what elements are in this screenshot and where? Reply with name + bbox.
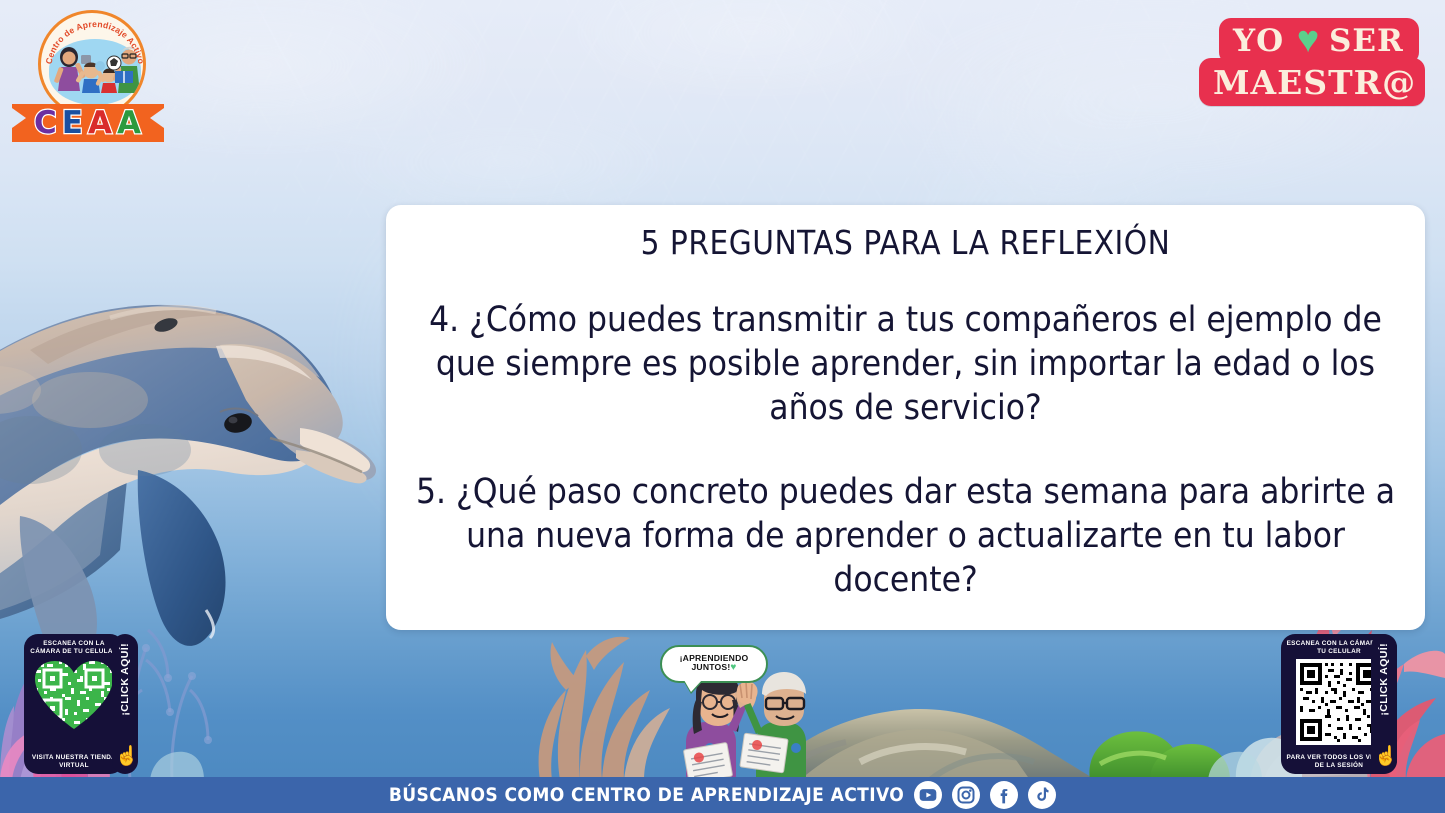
- heart-icon: ♥: [730, 662, 736, 673]
- ceaa-letter-c: C: [34, 108, 58, 139]
- bottom-bar-text: BÚSCANOS COMO CENTRO DE APRENDIZAJE ACTI…: [389, 784, 904, 806]
- questions-card: 5 PREGUNTAS PARA LA REFLEXIÓN 4. ¿Cómo p…: [386, 205, 1425, 630]
- teachers-high-five-illustration: [650, 672, 820, 787]
- qr-badge-tienda[interactable]: ESCANEA CON LA CÁMARA DE TU CELULAR: [24, 634, 124, 774]
- qr-left-code-heart[interactable]: [33, 659, 115, 736]
- yo-logo-yo-text: YO: [1233, 26, 1284, 57]
- social-bottom-bar: BÚSCANOS COMO CENTRO DE APRENDIZAJE ACTI…: [0, 777, 1445, 813]
- qr-left-caption-top: ESCANEA CON LA CÁMARA DE TU CELULAR: [28, 640, 120, 656]
- speech-bubble-line2: JUNTOS!♥: [691, 663, 736, 674]
- ceaa-logo-circle: Centro de Aprendizaje Activo: [38, 10, 146, 118]
- click-here-tab-right[interactable]: ¡CLICK AQUÍ! ☝: [1371, 634, 1397, 774]
- yo-logo-ser-text: SER: [1329, 26, 1404, 57]
- slide-canvas: ¡APRENDIENDO JUNTOS!♥: [0, 0, 1445, 813]
- speech-bubble: ¡APRENDIENDO JUNTOS!♥: [660, 645, 768, 683]
- ceaa-letter-a1: A: [88, 108, 113, 139]
- click-here-tab-left[interactable]: ¡CLICK AQUÍ! ☝: [112, 634, 138, 774]
- qr-left-caption-bottom: VISITA NUESTRA TIENDA VIRTUAL: [28, 754, 120, 770]
- pointing-hand-icon: ☝: [115, 744, 139, 768]
- facebook-icon[interactable]: [990, 781, 1018, 809]
- ceaa-arc-text: Centro de Aprendizaje Activo: [41, 13, 146, 118]
- ceaa-letter-e: E: [62, 108, 84, 139]
- click-here-label: ¡CLICK AQUÍ!: [1378, 643, 1390, 716]
- qr-right-code[interactable]: [1296, 659, 1382, 750]
- click-here-label: ¡CLICK AQUÍ!: [119, 643, 131, 716]
- question-4: 4. ¿Cómo puedes transmitir a tus compañe…: [404, 298, 1407, 430]
- card-title: 5 PREGUNTAS PARA LA REFLEXIÓN: [641, 223, 1171, 262]
- instagram-icon[interactable]: [952, 781, 980, 809]
- youtube-icon[interactable]: [914, 781, 942, 809]
- ceaa-logo[interactable]: Centro de Aprendizaje Activo C E A A: [8, 8, 168, 140]
- ceaa-letters: C E A A: [12, 104, 164, 142]
- yo-amo-ser-maestro-logo[interactable]: YO ♥ SER MAESTR@: [1199, 14, 1425, 110]
- pointing-hand-icon: ☝: [1374, 744, 1398, 768]
- question-5: 5. ¿Qué paso concreto puedes dar esta se…: [404, 470, 1407, 602]
- svg-text:Centro de Aprendizaje Activo: Centro de Aprendizaje Activo: [44, 19, 146, 65]
- tiktok-icon[interactable]: [1028, 781, 1056, 809]
- yo-logo-maestro-text: MAESTR@: [1213, 66, 1416, 99]
- heart-icon: ♥: [1291, 25, 1325, 57]
- ceaa-letter-a2: A: [117, 108, 142, 139]
